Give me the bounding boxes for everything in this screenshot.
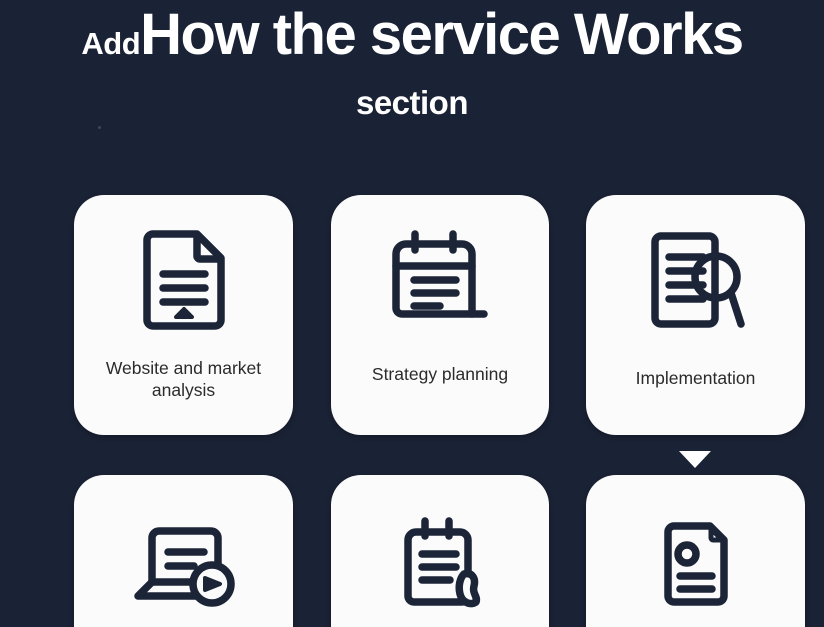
chevron-down-icon <box>679 451 711 468</box>
page-title: AddHow the service Works section <box>0 0 824 122</box>
page-title-prefix: Add <box>81 26 140 61</box>
card-implementation[interactable]: Implementation <box>586 195 805 435</box>
card-row2-item-3[interactable] <box>586 475 805 627</box>
how-it-works-section: AddHow the service Works section Website… <box>0 0 824 627</box>
page-title-line-1: AddHow the service Works <box>0 0 824 64</box>
card-row2-item-1[interactable] <box>74 475 293 627</box>
card-label: Strategy planning <box>331 363 549 385</box>
notepad-pen-icon <box>331 475 549 627</box>
card-strategy-planning[interactable]: Strategy planning <box>331 195 549 435</box>
document-magnifier-icon <box>586 195 805 347</box>
background-speck <box>98 126 101 129</box>
card-row2-item-2[interactable] <box>331 475 549 627</box>
page-title-main: How the service Works <box>140 2 742 67</box>
profile-document-icon <box>586 475 805 627</box>
page-title-line-2: section <box>0 84 824 122</box>
card-website-and-market-analysis[interactable]: Website and market analysis <box>74 195 293 435</box>
card-label: Implementation <box>586 367 805 389</box>
calendar-notes-icon <box>331 195 549 347</box>
card-label: Website and market analysis <box>74 357 293 402</box>
laptop-clock-icon <box>74 475 293 627</box>
document-lines-icon <box>74 195 293 347</box>
